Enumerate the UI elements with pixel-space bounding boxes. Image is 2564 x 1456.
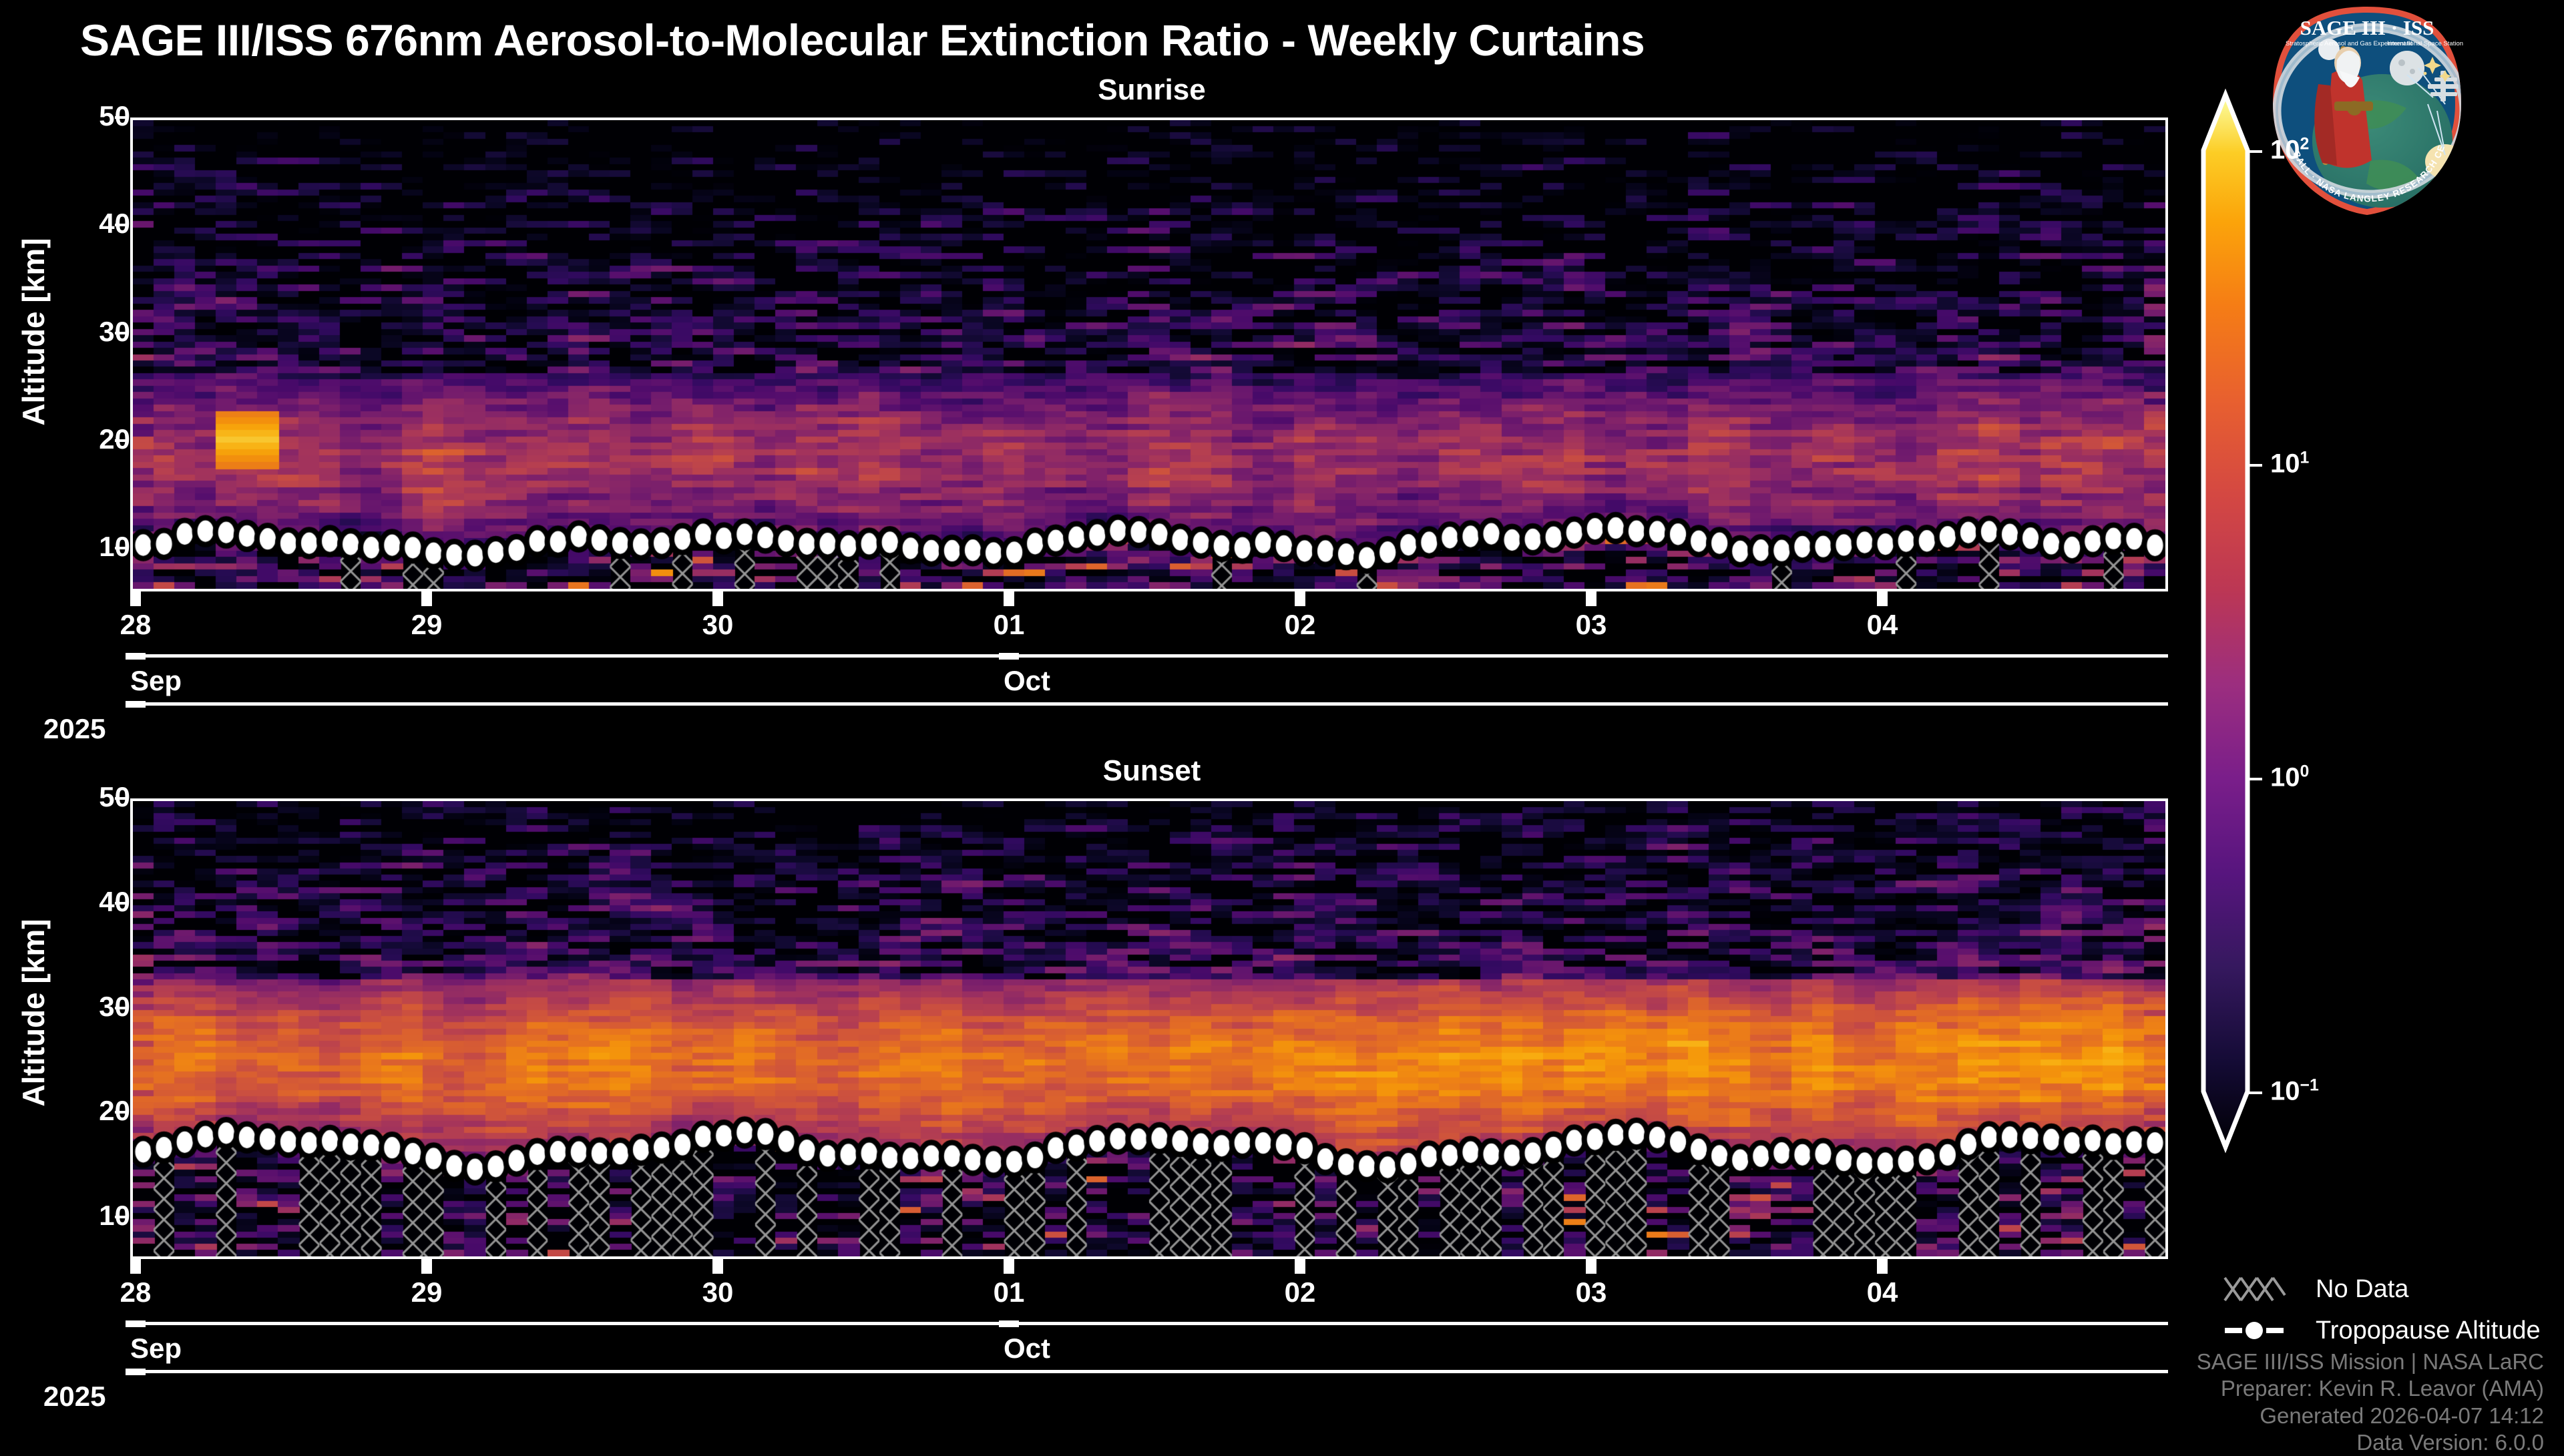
footer-line-generated: Generated 2026-04-07 14:12 xyxy=(1763,1403,2544,1429)
footer-line-mission: SAGE III/ISS Mission | NASA LaRC xyxy=(1763,1349,2544,1375)
colorbar-tick-1 xyxy=(2248,778,2262,780)
x-month-tick-sunset-Sep xyxy=(126,1320,146,1327)
x-tick-label-sunrise-04: 04 xyxy=(1867,609,1898,641)
x-tick-mark-sunrise-28 xyxy=(130,591,141,606)
y-tick-mark-sunset-50 xyxy=(115,797,127,800)
colorbar-label-1: 100 xyxy=(2270,762,2309,792)
x-year-label-sunrise: 2025 xyxy=(43,713,105,745)
figure-canvas: SAGE III/ISS 676nm Aerosol-to-Molecular … xyxy=(0,0,2564,1442)
y-axis-sunset: 1020304050 xyxy=(0,798,130,1259)
x-tick-label-sunrise-29: 29 xyxy=(411,609,443,641)
no-data-hatch-icon xyxy=(2223,1274,2304,1304)
x-tick-mark-sunrise-29 xyxy=(421,591,432,606)
x-month-tick-sunrise-Oct xyxy=(999,653,1019,660)
x-tick-label-sunset-30: 30 xyxy=(702,1276,734,1308)
y-tick-mark-sunrise-10 xyxy=(115,547,127,549)
x-tick-label-sunrise-03: 03 xyxy=(1576,609,1607,641)
x-tick-mark-sunset-29 xyxy=(421,1259,432,1274)
legend: No Data Tropopause Altitude xyxy=(2223,1268,2557,1351)
y-tick-mark-sunset-10 xyxy=(115,1216,127,1218)
y-tick-mark-sunset-20 xyxy=(115,1111,127,1114)
colorbar-label-100: 102 xyxy=(2270,135,2309,165)
colorbar-tick-0p1 xyxy=(2248,1091,2262,1094)
footer-line-version: Data Version: 6.0.0 xyxy=(1763,1429,2544,1456)
x-tick-label-sunset-04: 04 xyxy=(1867,1276,1898,1308)
heatmap-sunset[interactable] xyxy=(130,798,2168,1259)
x-month-rule-sunrise xyxy=(130,654,2168,658)
colorbar-gradient xyxy=(2203,95,2248,1147)
panel-title-sunset: Sunset xyxy=(130,754,2173,788)
x-tick-mark-sunset-30 xyxy=(712,1259,723,1274)
x-tick-mark-sunrise-02 xyxy=(1295,591,1305,606)
x-tick-mark-sunset-04 xyxy=(1877,1259,1888,1274)
panel-title-sunrise: Sunrise xyxy=(130,73,2173,107)
colorbar-tick-10 xyxy=(2248,464,2262,467)
x-month-tick-sunset-Oct xyxy=(999,1320,1019,1327)
legend-label-no-data: No Data xyxy=(2316,1275,2408,1304)
x-tick-label-sunrise-28: 28 xyxy=(120,609,152,641)
y-tick-mark-sunrise-50 xyxy=(115,116,127,119)
legend-item-no-data[interactable]: No Data xyxy=(2223,1268,2557,1310)
x-month-label-sunrise-Sep: Sep xyxy=(130,665,182,697)
x-tick-label-sunrise-01: 01 xyxy=(994,609,1025,641)
colorbar-label-10: 101 xyxy=(2270,449,2309,479)
y-tick-mark-sunset-30 xyxy=(115,1007,127,1009)
x-tick-label-sunset-02: 02 xyxy=(1285,1276,1316,1308)
x-tick-label-sunset-03: 03 xyxy=(1576,1276,1607,1308)
x-tick-mark-sunrise-01 xyxy=(1004,591,1014,606)
x-tick-label-sunset-28: 28 xyxy=(120,1276,152,1308)
footer-credits: SAGE III/ISS Mission | NASA LaRC Prepare… xyxy=(1763,1349,2544,1456)
x-tick-mark-sunset-01 xyxy=(1004,1259,1014,1274)
x-month-label-sunset-Sep: Sep xyxy=(130,1332,182,1365)
x-year-label-sunset: 2025 xyxy=(43,1381,105,1413)
x-tick-mark-sunset-28 xyxy=(130,1259,141,1274)
y-tick-mark-sunrise-20 xyxy=(115,439,127,442)
x-tick-mark-sunrise-03 xyxy=(1586,591,1596,606)
y-axis-sunrise: 1020304050 xyxy=(0,117,130,591)
legend-label-tropopause: Tropopause Altitude xyxy=(2316,1316,2541,1345)
colorbar[interactable]: 102 101 100 10−1 xyxy=(2203,80,2248,1162)
tropopause-marker-icon xyxy=(2223,1315,2304,1346)
colorbar-tick-100 xyxy=(2248,150,2262,153)
x-year-tick-sunrise xyxy=(126,701,146,708)
heatmap-sunrise[interactable] xyxy=(130,117,2168,591)
x-tick-label-sunset-01: 01 xyxy=(994,1276,1025,1308)
footer-line-preparer: Preparer: Kevin R. Leavor (AMA) xyxy=(1763,1375,2544,1402)
x-tick-mark-sunset-02 xyxy=(1295,1259,1305,1274)
patch-title: SAGE III · ISS xyxy=(2300,16,2434,39)
x-tick-label-sunrise-02: 02 xyxy=(1285,609,1316,641)
x-axis-sunrise: 28293001020304SepOct2025 xyxy=(0,591,2564,725)
x-month-tick-sunrise-Sep xyxy=(126,653,146,660)
x-tick-mark-sunset-03 xyxy=(1586,1259,1596,1274)
x-year-rule-sunrise xyxy=(130,702,2168,706)
x-tick-label-sunrise-30: 30 xyxy=(702,609,734,641)
page-title: SAGE III/ISS 676nm Aerosol-to-Molecular … xyxy=(80,15,1883,65)
x-month-rule-sunset xyxy=(130,1322,2168,1325)
y-tick-mark-sunrise-30 xyxy=(115,332,127,334)
colorbar-label-0p1: 10−1 xyxy=(2270,1076,2319,1106)
patch-subtitle-2: International Space Station xyxy=(2387,40,2463,47)
x-month-label-sunrise-Oct: Oct xyxy=(1004,665,1050,697)
legend-item-tropopause[interactable]: Tropopause Altitude xyxy=(2223,1310,2557,1351)
y-tick-mark-sunset-40 xyxy=(115,902,127,905)
x-tick-mark-sunrise-30 xyxy=(712,591,723,606)
x-year-tick-sunset xyxy=(126,1369,146,1375)
x-month-label-sunset-Oct: Oct xyxy=(1004,1332,1050,1365)
y-tick-mark-sunrise-40 xyxy=(115,224,127,226)
x-tick-label-sunset-29: 29 xyxy=(411,1276,443,1308)
x-tick-mark-sunrise-04 xyxy=(1877,591,1888,606)
